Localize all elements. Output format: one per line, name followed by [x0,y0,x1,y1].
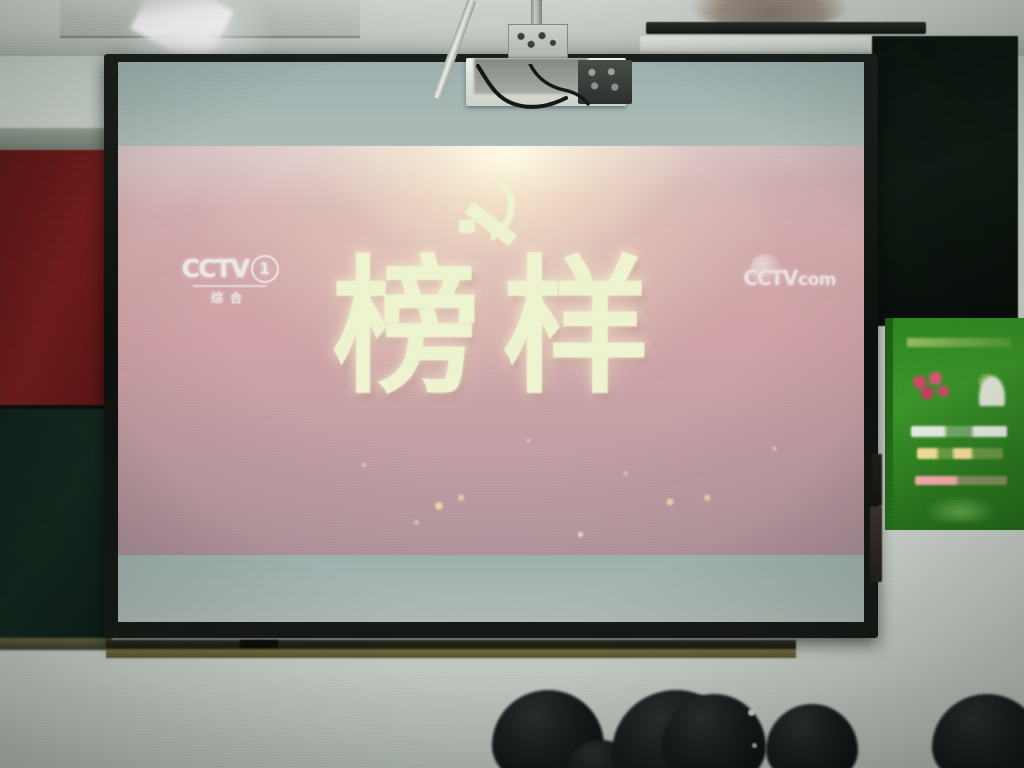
screen-hardware-strip [870,506,882,582]
student-head [766,704,858,768]
poster-body-text [917,448,1003,459]
red-notice-board [0,150,111,409]
hair-clip [748,709,755,716]
projector-mount-rod [531,0,542,26]
poster-bottom-graphic [925,496,997,522]
hair-clip [752,743,757,748]
green-chalkboard [0,406,111,647]
students-silhouettes [0,638,1024,768]
video-frame: CCTV 1 综合 CCTV com [118,146,864,555]
dark-chalkboard [872,36,1018,326]
student-head [932,694,1024,768]
projection-screen-frame: CCTV 1 综合 CCTV com [104,54,878,638]
projector-mount-bolts [516,31,558,49]
curtain-rail [646,22,926,34]
poster-header-text [907,338,1011,347]
poster-footer-text [915,476,1007,485]
projector-cables [470,64,600,112]
poster-headline-text [911,426,1007,437]
projection-screen: CCTV 1 综合 CCTV com [118,62,864,622]
letterbox-band-bottom [118,555,864,622]
screen-hardware-strip-upper [872,454,882,506]
flower-cluster-graphic [909,370,957,404]
programme-title: 榜样 [118,254,864,402]
poster-left-band [885,318,893,530]
green-wall-poster [885,318,1024,530]
classroom-scene: CCTV 1 综合 CCTV com [0,0,1024,768]
plant-graphic [973,366,1011,406]
